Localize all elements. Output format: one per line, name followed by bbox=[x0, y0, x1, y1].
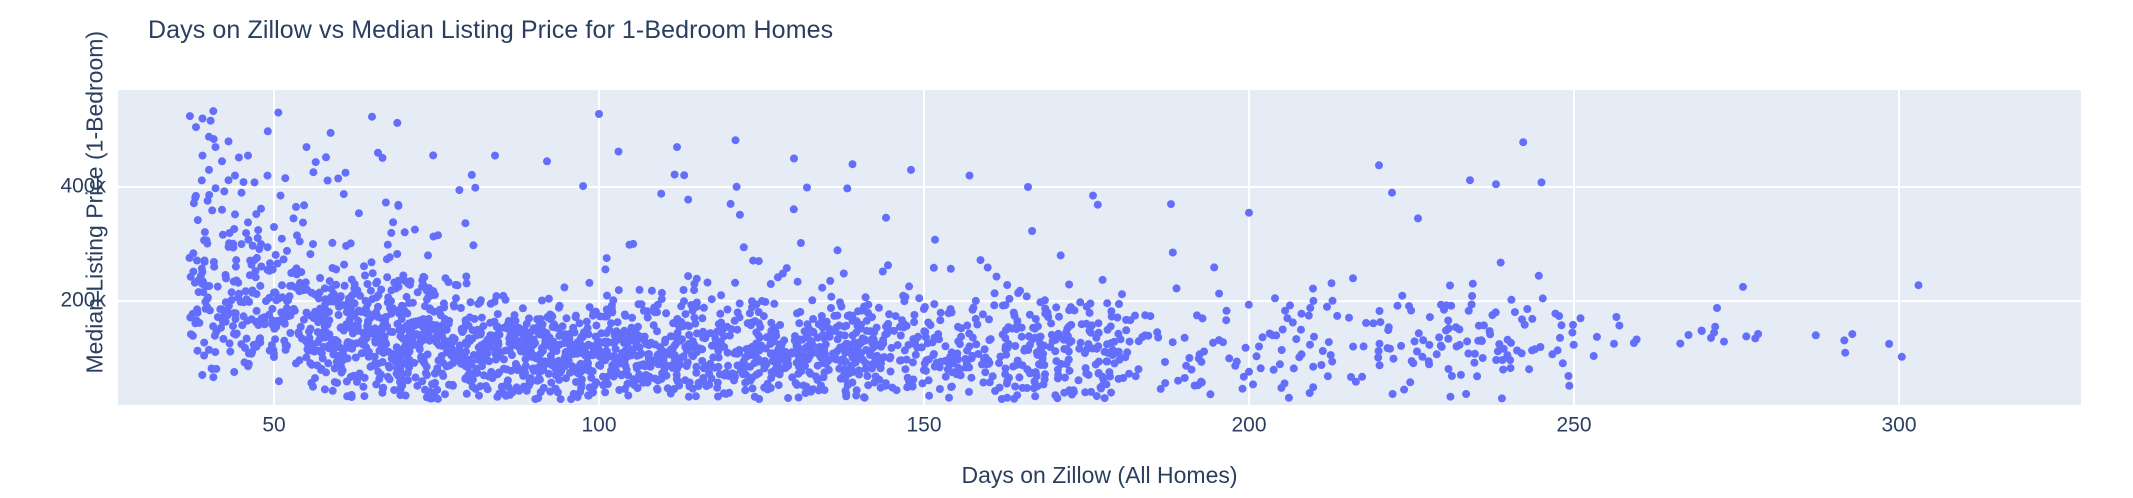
data-point bbox=[1041, 296, 1049, 304]
data-point bbox=[1898, 353, 1906, 361]
data-point bbox=[312, 158, 320, 166]
data-point bbox=[258, 314, 266, 322]
data-point bbox=[1095, 329, 1103, 337]
data-point bbox=[800, 352, 808, 360]
data-point bbox=[989, 372, 997, 380]
data-point bbox=[1329, 297, 1337, 305]
data-point bbox=[469, 241, 477, 249]
data-point bbox=[1242, 344, 1250, 352]
data-point bbox=[912, 351, 920, 359]
data-point bbox=[1523, 305, 1531, 313]
data-point bbox=[849, 160, 857, 168]
data-point bbox=[882, 214, 890, 222]
data-point bbox=[369, 269, 377, 277]
data-point bbox=[360, 262, 368, 270]
data-point bbox=[405, 364, 413, 372]
data-point bbox=[348, 291, 356, 299]
x-tick-label: 200 bbox=[1231, 413, 1266, 436]
data-point bbox=[741, 379, 749, 387]
data-point bbox=[900, 323, 908, 331]
data-point bbox=[382, 199, 390, 207]
data-point bbox=[455, 186, 463, 194]
data-point bbox=[1276, 360, 1284, 368]
data-point bbox=[1435, 333, 1443, 341]
data-point bbox=[690, 341, 698, 349]
data-point bbox=[642, 371, 650, 379]
data-point bbox=[487, 300, 495, 308]
data-point bbox=[1078, 320, 1086, 328]
data-point bbox=[1468, 292, 1476, 300]
data-point bbox=[897, 356, 905, 364]
data-point bbox=[355, 327, 363, 335]
data-point bbox=[344, 338, 352, 346]
data-point bbox=[691, 320, 699, 328]
data-point bbox=[628, 314, 636, 322]
data-point bbox=[1506, 356, 1514, 364]
data-point bbox=[1076, 298, 1084, 306]
data-point bbox=[1452, 323, 1460, 331]
data-point bbox=[238, 189, 246, 197]
data-point bbox=[251, 178, 259, 186]
data-point bbox=[993, 273, 1001, 281]
data-point bbox=[1518, 349, 1526, 357]
data-point bbox=[422, 369, 430, 377]
data-point bbox=[1309, 297, 1317, 305]
data-point bbox=[325, 308, 333, 316]
data-point bbox=[218, 157, 226, 165]
data-point bbox=[1003, 281, 1011, 289]
data-point bbox=[1466, 176, 1474, 184]
data-point bbox=[827, 304, 835, 312]
data-point bbox=[242, 287, 250, 295]
data-point bbox=[254, 226, 262, 234]
data-point bbox=[596, 312, 604, 320]
data-point bbox=[779, 270, 787, 278]
data-point bbox=[604, 380, 612, 388]
data-point bbox=[1021, 345, 1029, 353]
data-point bbox=[240, 298, 248, 306]
data-point bbox=[1569, 321, 1577, 329]
data-point bbox=[818, 284, 826, 292]
data-point bbox=[863, 372, 871, 380]
data-point bbox=[882, 323, 890, 331]
data-point bbox=[503, 380, 511, 388]
data-point bbox=[256, 282, 264, 290]
data-point bbox=[212, 143, 220, 151]
data-point bbox=[1442, 327, 1450, 335]
data-point bbox=[1118, 290, 1126, 298]
data-point bbox=[192, 123, 200, 131]
data-point bbox=[736, 211, 744, 219]
data-point bbox=[636, 286, 644, 294]
data-point bbox=[560, 283, 568, 291]
data-point bbox=[307, 379, 315, 387]
data-point bbox=[1492, 180, 1500, 188]
data-point bbox=[1219, 338, 1227, 346]
data-point bbox=[393, 250, 401, 258]
data-point bbox=[311, 308, 319, 316]
data-point bbox=[816, 384, 824, 392]
data-point bbox=[327, 129, 335, 137]
data-point bbox=[1473, 372, 1481, 380]
data-point bbox=[879, 268, 887, 276]
data-point bbox=[405, 327, 413, 335]
x-tick-label: 300 bbox=[1881, 413, 1916, 436]
data-point bbox=[1055, 313, 1063, 321]
data-point bbox=[394, 277, 402, 285]
data-point bbox=[569, 324, 577, 332]
data-point bbox=[603, 254, 611, 262]
data-point bbox=[899, 292, 907, 300]
data-point bbox=[467, 298, 475, 306]
data-point bbox=[1117, 335, 1125, 343]
data-point bbox=[1259, 333, 1267, 341]
data-point bbox=[1088, 321, 1096, 329]
data-point bbox=[684, 196, 692, 204]
data-point bbox=[1498, 356, 1506, 364]
data-point bbox=[526, 328, 534, 336]
data-point bbox=[522, 355, 530, 363]
data-point bbox=[218, 206, 226, 214]
data-point bbox=[714, 379, 722, 387]
data-point bbox=[954, 337, 962, 345]
data-point bbox=[627, 336, 635, 344]
data-point bbox=[1349, 343, 1357, 351]
data-point bbox=[589, 308, 597, 316]
data-point bbox=[761, 298, 769, 306]
data-point bbox=[716, 310, 724, 318]
data-point bbox=[314, 347, 322, 355]
data-point bbox=[741, 386, 749, 394]
data-point bbox=[204, 197, 212, 205]
data-point bbox=[1107, 322, 1115, 330]
data-point bbox=[1292, 335, 1300, 343]
data-point bbox=[1333, 312, 1341, 320]
data-point bbox=[1119, 374, 1127, 382]
data-point bbox=[200, 339, 208, 347]
data-point bbox=[1157, 385, 1165, 393]
data-point bbox=[1444, 317, 1452, 325]
data-point bbox=[1347, 373, 1355, 381]
data-point bbox=[879, 340, 887, 348]
data-point bbox=[222, 318, 230, 326]
data-point bbox=[1475, 322, 1483, 330]
data-point bbox=[1306, 341, 1314, 349]
data-point bbox=[1135, 365, 1143, 373]
data-point bbox=[1499, 366, 1507, 374]
data-point bbox=[1046, 343, 1054, 351]
data-point bbox=[766, 340, 774, 348]
data-point bbox=[907, 166, 915, 174]
data-point bbox=[1015, 373, 1023, 381]
data-point bbox=[968, 352, 976, 360]
data-point bbox=[868, 313, 876, 321]
data-point bbox=[942, 342, 950, 350]
data-point bbox=[229, 322, 237, 330]
data-point bbox=[1253, 352, 1261, 360]
data-point bbox=[1102, 380, 1110, 388]
data-point bbox=[1035, 333, 1043, 341]
data-point bbox=[584, 324, 592, 332]
data-point bbox=[715, 320, 723, 328]
data-point bbox=[517, 347, 525, 355]
data-point bbox=[318, 365, 326, 373]
data-point bbox=[1448, 372, 1456, 380]
data-point bbox=[394, 201, 402, 209]
data-point bbox=[669, 364, 677, 372]
data-point bbox=[500, 355, 508, 363]
data-point bbox=[1011, 342, 1019, 350]
data-point bbox=[449, 334, 457, 342]
data-point bbox=[914, 333, 922, 341]
data-point bbox=[775, 381, 783, 389]
data-point bbox=[1305, 312, 1313, 320]
data-point bbox=[212, 184, 220, 192]
data-point bbox=[1433, 350, 1441, 358]
data-point bbox=[931, 363, 939, 371]
data-point bbox=[207, 117, 215, 125]
data-point bbox=[796, 308, 804, 316]
data-point bbox=[343, 392, 351, 400]
data-point bbox=[552, 347, 560, 355]
data-point bbox=[797, 239, 805, 247]
y-tick-label: 400k bbox=[60, 175, 106, 198]
data-point bbox=[251, 256, 259, 264]
data-point bbox=[662, 309, 670, 317]
data-point bbox=[398, 370, 406, 378]
data-point bbox=[1411, 337, 1419, 345]
data-point bbox=[734, 309, 742, 317]
data-point bbox=[429, 287, 437, 295]
data-point bbox=[283, 304, 291, 312]
data-point bbox=[1092, 361, 1100, 369]
data-point bbox=[1398, 292, 1406, 300]
data-point bbox=[1047, 319, 1055, 327]
data-point bbox=[1389, 390, 1397, 398]
data-point bbox=[1590, 352, 1598, 360]
data-point bbox=[1376, 307, 1384, 315]
data-point bbox=[241, 358, 249, 366]
data-point bbox=[502, 296, 510, 304]
data-point bbox=[296, 356, 304, 364]
data-point bbox=[1298, 350, 1306, 358]
data-point bbox=[394, 320, 402, 328]
data-point bbox=[340, 190, 348, 198]
data-point bbox=[362, 333, 370, 341]
data-point bbox=[936, 385, 944, 393]
data-point bbox=[361, 272, 369, 280]
data-point bbox=[348, 322, 356, 330]
data-point bbox=[651, 375, 659, 383]
data-point bbox=[996, 353, 1004, 361]
data-point bbox=[314, 328, 322, 336]
data-point bbox=[228, 288, 236, 296]
data-point bbox=[1848, 330, 1856, 338]
data-point bbox=[281, 174, 289, 182]
data-point bbox=[675, 323, 683, 331]
data-point bbox=[733, 183, 741, 191]
data-point bbox=[244, 152, 252, 160]
data-point bbox=[1034, 382, 1042, 390]
data-point bbox=[493, 339, 501, 347]
data-point bbox=[1041, 375, 1049, 383]
data-point bbox=[1456, 341, 1464, 349]
data-point bbox=[1065, 281, 1073, 289]
data-point bbox=[1559, 359, 1567, 367]
data-point bbox=[1131, 312, 1139, 320]
data-point bbox=[362, 297, 370, 305]
x-tick-label: 50 bbox=[262, 413, 285, 436]
data-point bbox=[384, 373, 392, 381]
data-point bbox=[790, 205, 798, 213]
data-point bbox=[232, 309, 240, 317]
data-point bbox=[371, 336, 379, 344]
data-point bbox=[1210, 263, 1218, 271]
data-point bbox=[1099, 276, 1107, 284]
y-axis-tick-labels: 200k400k bbox=[60, 175, 106, 312]
data-point bbox=[322, 153, 330, 161]
data-point bbox=[1094, 201, 1102, 209]
data-point bbox=[829, 350, 837, 358]
data-point bbox=[297, 323, 305, 331]
data-point bbox=[961, 355, 969, 363]
data-point bbox=[972, 315, 980, 323]
data-point bbox=[461, 219, 469, 227]
data-point bbox=[238, 321, 246, 329]
data-point bbox=[445, 381, 453, 389]
data-point bbox=[187, 330, 195, 338]
data-point bbox=[1061, 374, 1069, 382]
data-point bbox=[237, 340, 245, 348]
data-point bbox=[863, 327, 871, 335]
data-point bbox=[1707, 334, 1715, 342]
data-point bbox=[1101, 348, 1109, 356]
data-point bbox=[1612, 313, 1620, 321]
data-point bbox=[963, 322, 971, 330]
plot-canvas: 200k400k 50100150200250300 bbox=[0, 0, 2133, 498]
data-point bbox=[886, 353, 894, 361]
data-point bbox=[843, 340, 851, 348]
data-point bbox=[1239, 385, 1247, 393]
data-point bbox=[979, 379, 987, 387]
data-point bbox=[452, 281, 460, 289]
data-point bbox=[1018, 333, 1026, 341]
data-point bbox=[1279, 326, 1287, 334]
data-point bbox=[471, 184, 479, 192]
data-point bbox=[947, 265, 955, 273]
data-point bbox=[1457, 371, 1465, 379]
data-point bbox=[186, 314, 194, 322]
data-point bbox=[328, 239, 336, 247]
data-point bbox=[784, 394, 792, 402]
data-point bbox=[324, 177, 332, 185]
data-point bbox=[520, 383, 528, 391]
data-point bbox=[1518, 315, 1526, 323]
data-point bbox=[1328, 279, 1336, 287]
data-point bbox=[1558, 321, 1566, 329]
data-point bbox=[946, 353, 954, 361]
data-point bbox=[413, 330, 421, 338]
data-point bbox=[357, 308, 365, 316]
data-point bbox=[388, 352, 396, 360]
data-point bbox=[352, 354, 360, 362]
data-point bbox=[736, 300, 744, 308]
data-point bbox=[954, 356, 962, 364]
data-point bbox=[187, 273, 195, 281]
data-point bbox=[272, 251, 280, 259]
data-point bbox=[293, 270, 301, 278]
data-point bbox=[801, 362, 809, 370]
data-point bbox=[1223, 307, 1231, 315]
data-point bbox=[433, 338, 441, 346]
data-point bbox=[303, 309, 311, 317]
data-point bbox=[389, 218, 397, 226]
data-point bbox=[316, 289, 324, 297]
data-point bbox=[494, 310, 502, 318]
data-point bbox=[985, 336, 993, 344]
data-point bbox=[1035, 360, 1043, 368]
data-point bbox=[519, 304, 527, 312]
data-point bbox=[1206, 390, 1214, 398]
data-point bbox=[541, 337, 549, 345]
data-point bbox=[1841, 349, 1849, 357]
data-point bbox=[476, 329, 484, 337]
data-point bbox=[1132, 372, 1140, 380]
data-point bbox=[794, 278, 802, 286]
data-point bbox=[570, 390, 578, 398]
data-point bbox=[538, 297, 546, 305]
data-point bbox=[947, 305, 955, 313]
data-point bbox=[286, 329, 294, 337]
data-point bbox=[714, 393, 722, 401]
data-point bbox=[1031, 392, 1039, 400]
data-point bbox=[915, 294, 923, 302]
data-point bbox=[264, 127, 272, 135]
data-point bbox=[671, 354, 679, 362]
data-point bbox=[280, 337, 288, 345]
data-point bbox=[225, 137, 233, 145]
data-point bbox=[615, 148, 623, 156]
data-point bbox=[657, 190, 665, 198]
data-point bbox=[913, 344, 921, 352]
data-point bbox=[722, 390, 730, 398]
data-point bbox=[1173, 284, 1181, 292]
data-point bbox=[1028, 227, 1036, 235]
data-point bbox=[403, 293, 411, 301]
data-point bbox=[416, 344, 424, 352]
data-point bbox=[214, 283, 222, 291]
data-point bbox=[283, 297, 291, 305]
data-point bbox=[1319, 347, 1327, 355]
data-point bbox=[972, 297, 980, 305]
data-point bbox=[1565, 382, 1573, 390]
data-point bbox=[795, 394, 803, 402]
data-point bbox=[337, 292, 345, 300]
data-point bbox=[693, 303, 701, 311]
data-point bbox=[1469, 280, 1477, 288]
data-point bbox=[1400, 386, 1408, 394]
data-point bbox=[1477, 336, 1485, 344]
data-point bbox=[1531, 345, 1539, 353]
x-tick-label: 100 bbox=[581, 413, 616, 436]
data-point bbox=[1462, 390, 1470, 398]
data-point bbox=[415, 317, 423, 325]
data-point bbox=[1270, 366, 1278, 374]
data-point bbox=[837, 303, 845, 311]
y-tick-label: 200k bbox=[60, 289, 106, 312]
data-point bbox=[205, 133, 213, 141]
data-point bbox=[690, 280, 698, 288]
